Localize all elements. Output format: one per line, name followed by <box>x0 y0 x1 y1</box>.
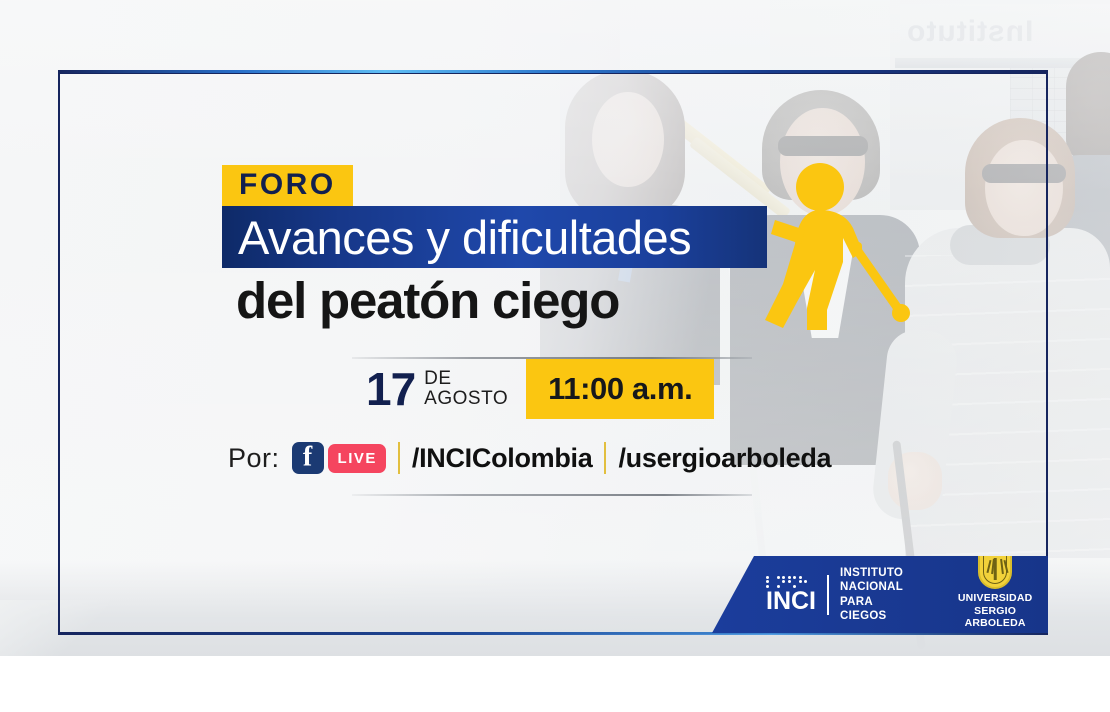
separator-two <box>604 442 606 474</box>
separator-one <box>398 442 400 474</box>
date-month-line-one: DE <box>424 368 451 389</box>
inci-full-name: INSTITUTO NACIONAL PARA CIEGOS <box>840 566 922 624</box>
date-month: DE AGOSTO <box>424 369 508 409</box>
handle-inci-colombia[interactable]: /INCIColombia <box>412 443 593 474</box>
date-cell: 17 DE AGOSTO <box>352 359 526 419</box>
datetime-strip: 17 DE AGOSTO 11:00 a.m. <box>352 359 714 419</box>
sergio-arboleda-logo: UNIVERSIDAD SERGIO ARBOLEDA Escuela Mayo… <box>942 549 1048 640</box>
event-poster: Instituto <box>0 0 1110 712</box>
event-kicker-badge: FORO <box>222 165 353 206</box>
time-cell: 11:00 a.m. <box>526 359 714 419</box>
facebook-live-group[interactable]: LIVE <box>292 442 386 474</box>
title-block: FORO Avances y dificultades del peatón c… <box>222 165 782 328</box>
inci-logo-left: INCI <box>766 576 816 614</box>
inci-name-line-one: INSTITUTO <box>840 566 922 580</box>
date-month-line-two: AGOSTO <box>424 388 508 409</box>
inci-acronym: INCI <box>766 589 816 614</box>
social-channels-row: Por: LIVE /INCIColombia /usergioarboleda <box>228 437 831 479</box>
university-name-line-two: SERGIO ARBOLEDA <box>942 605 1048 630</box>
live-badge: LIVE <box>328 444 386 473</box>
headline-text: Avances y dificultades <box>238 214 691 261</box>
inci-name-line-two: NACIONAL <box>840 580 922 594</box>
subheadline-text: del peatón ciego <box>222 274 782 328</box>
time-text: 11:00 a.m. <box>548 371 692 407</box>
facebook-icon[interactable] <box>292 442 324 474</box>
university-name-line-one: UNIVERSIDAD <box>942 592 1048 605</box>
sponsor-logos: INCI INSTITUTO NACIONAL PARA CIEGOS <box>712 549 1048 640</box>
braille-dots-icon <box>766 576 807 587</box>
university-name: UNIVERSIDAD SERGIO ARBOLEDA <box>942 592 1048 630</box>
inci-logo-divider <box>827 575 829 615</box>
inci-logo: INCI INSTITUTO NACIONAL PARA CIEGOS <box>766 566 922 624</box>
divider-below-social <box>352 494 752 496</box>
inci-name-line-three: PARA CIEGOS <box>840 595 922 624</box>
por-label: Por: <box>228 443 280 474</box>
date-day: 17 <box>366 366 415 412</box>
sponsor-logo-bar: INCI INSTITUTO NACIONAL PARA CIEGOS <box>712 556 1048 633</box>
handle-usergioarboleda[interactable]: /usergioarboleda <box>618 443 831 474</box>
photo-corner-fade <box>0 600 110 656</box>
headline-bar: Avances y dificultades <box>222 206 767 268</box>
